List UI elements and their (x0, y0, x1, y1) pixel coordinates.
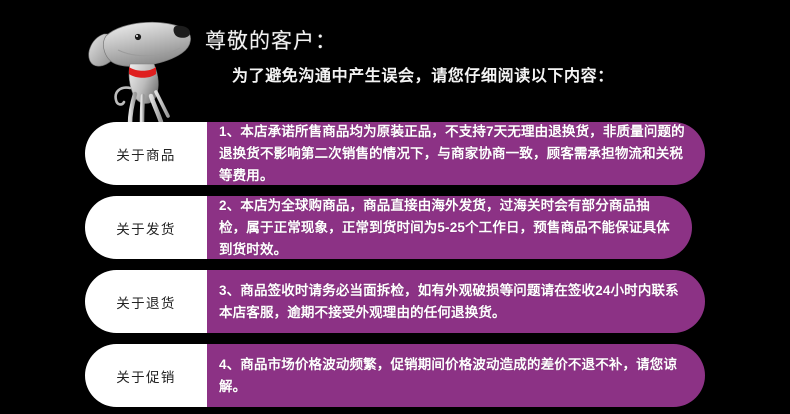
notice-text: 1、本店承诺所售商品均为原装正品，不支持7天无理由退换货，非质量问题的退换货不影… (205, 121, 705, 187)
notice-text-bar: 2、本店为全球购商品，商品直接由海外发货，过海关时会有部分商品抽检，属于正常现象… (205, 196, 692, 259)
category-pill-shipping: 关于发货 (85, 196, 207, 259)
category-label: 关于退货 (116, 292, 176, 312)
list-item: 4、商品市场价格波动频繁，促销期间价格波动造成的差价不退不补，请您谅解。 关于促… (0, 344, 790, 407)
list-item: 3、商品签收时请务必当面拆检，如有外观破损等问题请在签收24小时内联系本店客服，… (0, 270, 790, 333)
page-subtitle: 为了避免沟通中产生误会，请您仔细阅读以下内容： (205, 65, 765, 89)
notice-banner: 尊敬的客户： 为了避免沟通中产生误会，请您仔细阅读以下内容： 1、本店承诺所售商… (0, 0, 790, 414)
notice-text-bar: 4、商品市场价格波动频繁，促销期间价格波动造成的差价不退不补，请您谅解。 (205, 344, 705, 407)
notice-text-bar: 3、商品签收时请务必当面拆检，如有外观破损等问题请在签收24小时内联系本店客服，… (205, 270, 705, 333)
category-label: 关于发货 (116, 218, 176, 238)
dog-mascot-icon (72, 12, 192, 130)
list-item: 2、本店为全球购商品，商品直接由海外发货，过海关时会有部分商品抽检，属于正常现象… (0, 196, 790, 259)
list-item: 1、本店承诺所售商品均为原装正品，不支持7天无理由退换货，非质量问题的退换货不影… (0, 122, 790, 185)
category-pill-goods: 关于商品 (85, 122, 207, 185)
notice-text: 4、商品市场价格波动频繁，促销期间价格波动造成的差价不退不补，请您谅解。 (205, 354, 705, 398)
category-pill-promotion: 关于促销 (85, 344, 207, 407)
notice-text-bar: 1、本店承诺所售商品均为原装正品，不支持7天无理由退换货，非质量问题的退换货不影… (205, 122, 705, 185)
header-block: 尊敬的客户： 为了避免沟通中产生误会，请您仔细阅读以下内容： (205, 28, 765, 89)
page-title: 尊敬的客户： (205, 28, 765, 56)
notice-list: 1、本店承诺所售商品均为原装正品，不支持7天无理由退换货，非质量问题的退换货不影… (0, 122, 790, 414)
notice-text: 3、商品签收时请务必当面拆检，如有外观破损等问题请在签收24小时内联系本店客服，… (205, 280, 705, 324)
notice-text: 2、本店为全球购商品，商品直接由海外发货，过海关时会有部分商品抽检，属于正常现象… (205, 195, 692, 261)
category-label: 关于促销 (116, 366, 176, 386)
category-label: 关于商品 (116, 144, 176, 164)
category-pill-returns: 关于退货 (85, 270, 207, 333)
